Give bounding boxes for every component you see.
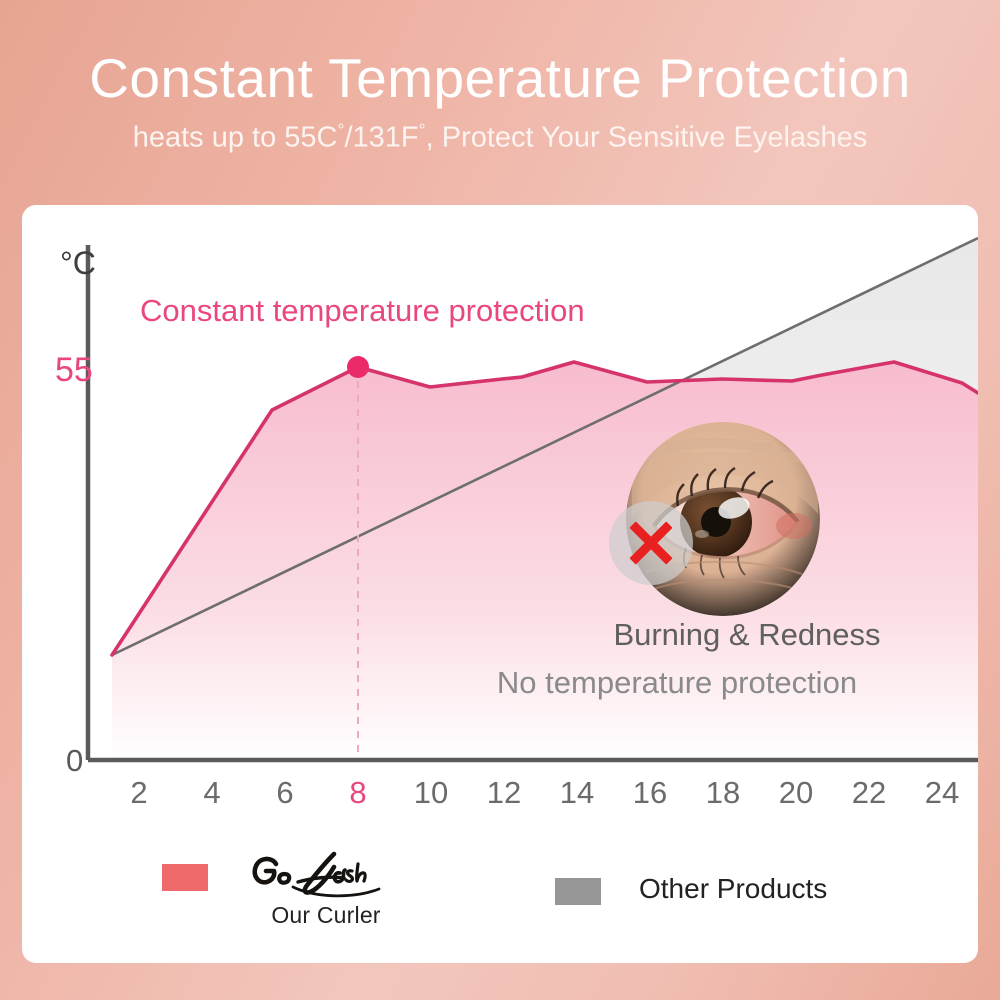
temperature-chart: °C 55 0 2 4 6 8 10 12 14 16 18 20 22 24 … xyxy=(22,205,978,963)
legend-item-other-products[interactable]: Other Products xyxy=(555,864,827,905)
burning-redness-label: Burning & Redness xyxy=(587,617,907,653)
degree-symbol-fahrenheit: ° xyxy=(419,120,426,140)
page-subtitle: heats up to 55C°/131F°, Protect Your Sen… xyxy=(133,120,868,155)
page-header: Constant Temperature Protection heats up… xyxy=(0,0,1000,205)
x-tick-4: 4 xyxy=(203,775,220,811)
chart-legend: Our Curler Other Products xyxy=(22,850,978,950)
x-tick-10: 10 xyxy=(414,775,448,811)
x-tick-14: 14 xyxy=(560,775,594,811)
x-tick-22: 22 xyxy=(852,775,886,811)
y-axis-unit-label: °C xyxy=(60,245,96,282)
page-title: Constant Temperature Protection xyxy=(89,50,911,108)
legend-swatch-other-products xyxy=(555,878,601,905)
brand-logo-go-lash xyxy=(246,850,406,900)
x-tick-16: 16 xyxy=(633,775,667,811)
subtitle-text-pre: heats up to 55C xyxy=(133,122,338,154)
y-tick-55: 55 xyxy=(55,351,93,390)
chart-card: °C 55 0 2 4 6 8 10 12 14 16 18 20 22 24 … xyxy=(22,205,978,963)
x-tick-20: 20 xyxy=(779,775,813,811)
red-x-mark-icon xyxy=(609,501,693,585)
legend-item-our-curler[interactable]: Our Curler xyxy=(162,850,406,929)
peak-marker-dot xyxy=(347,356,369,378)
constant-protection-annotation: Constant temperature protection xyxy=(140,293,585,329)
x-tick-24: 24 xyxy=(925,775,959,811)
x-axis-tick-labels: 2 4 6 8 10 12 14 16 18 20 22 24 xyxy=(22,775,978,835)
no-protection-label: No temperature protection xyxy=(437,665,917,701)
legend-swatch-our-curler xyxy=(162,864,208,891)
subtitle-text-mid: /131F xyxy=(344,122,418,154)
x-tick-2: 2 xyxy=(130,775,147,811)
x-tick-8: 8 xyxy=(349,775,366,811)
legend-label-our-curler: Our Curler xyxy=(271,902,380,929)
y-tick-0: 0 xyxy=(66,743,83,779)
x-tick-6: 6 xyxy=(276,775,293,811)
subtitle-text-post: , Protect Your Sensitive Eyelashes xyxy=(426,122,868,154)
x-tick-12: 12 xyxy=(487,775,521,811)
x-tick-18: 18 xyxy=(706,775,740,811)
legend-label-other-products: Other Products xyxy=(639,873,827,905)
